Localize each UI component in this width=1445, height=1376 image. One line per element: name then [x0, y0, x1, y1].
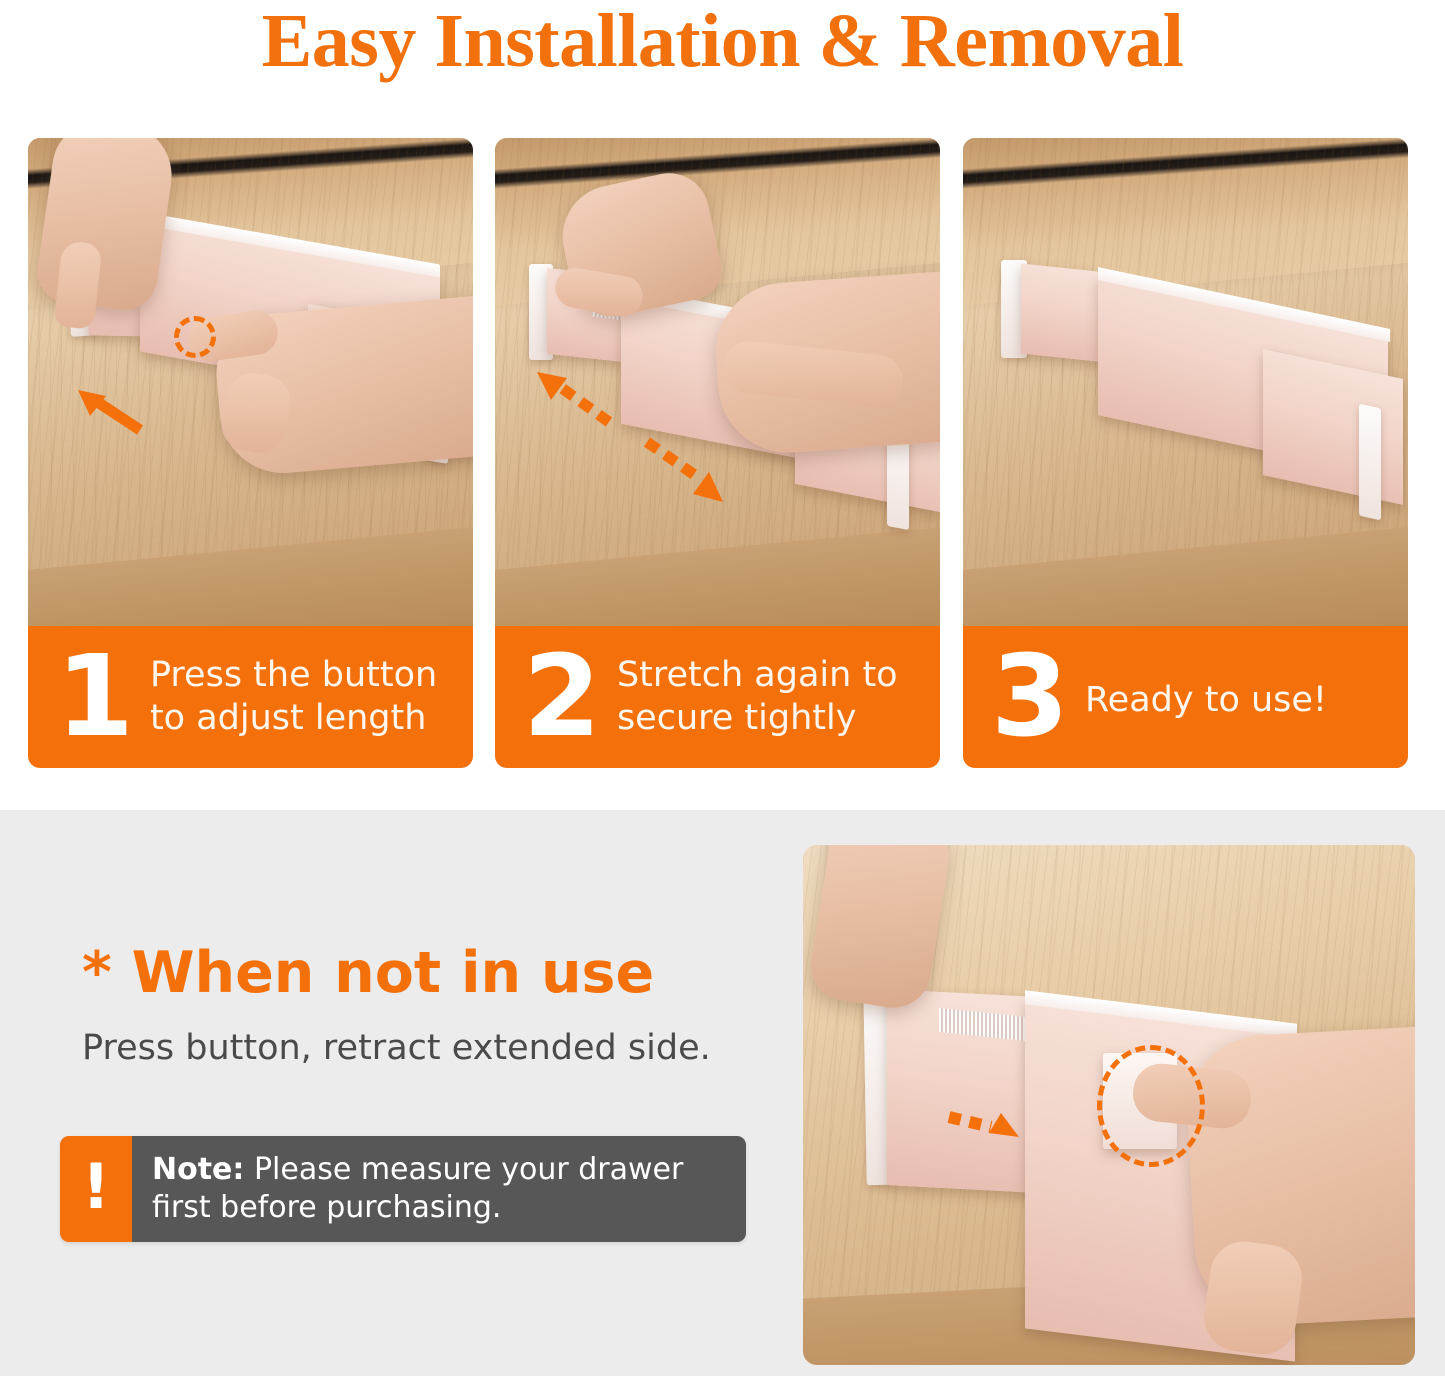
step-2-number: 2: [523, 647, 599, 747]
step-1-photo: [28, 138, 473, 626]
bottom-section: * When not in use Press button, retract …: [0, 810, 1445, 1376]
step-3-photo: [963, 138, 1408, 626]
divider-left-panel: [1021, 263, 1107, 362]
note-badge: !: [60, 1136, 132, 1242]
note-box: ! Note: Please measure your drawer first…: [60, 1136, 746, 1242]
arrow-left-icon: [76, 388, 146, 438]
step-1-number: 1: [56, 647, 132, 747]
step-2-caption: 2 Stretch again to secure tightly: [495, 626, 940, 768]
dashed-circle-button-icon: [1097, 1045, 1205, 1167]
step-3-number: 3: [991, 647, 1067, 747]
note-body: Note: Please measure your drawer first b…: [132, 1136, 746, 1242]
step-2-photo: [495, 138, 940, 626]
step-1-line2: to adjust length: [150, 697, 437, 740]
step-1-text: Press the button to adjust length: [150, 654, 437, 740]
step-card-3: 3 Ready to use!: [963, 138, 1408, 768]
when-not-in-use-photo: [803, 845, 1415, 1365]
step-3-text: Ready to use!: [1085, 673, 1327, 722]
page-title: Easy Installation & Removal: [0, 0, 1445, 85]
dashed-circle-button-icon: [174, 316, 216, 358]
arrow-up-left-dashed-icon: [535, 370, 615, 430]
step-card-2: 2 Stretch again to secure tightly: [495, 138, 940, 768]
exclamation-mark-icon: !: [82, 1156, 110, 1222]
divider-right-end-cap: [1359, 404, 1381, 521]
step-2-line1: Stretch again to: [617, 654, 898, 697]
step-2-text: Stretch again to secure tightly: [617, 654, 898, 740]
step-3-line1: Ready to use!: [1085, 679, 1327, 722]
step-2-line2: secure tightly: [617, 697, 898, 740]
step-3-caption: 3 Ready to use!: [963, 626, 1408, 768]
arrow-down-right-dashed-icon: [641, 436, 731, 506]
step-card-1: 1 Press the button to adjust length: [28, 138, 473, 768]
step-1-line1: Press the button: [150, 654, 437, 697]
step-1-caption: 1 Press the button to adjust length: [28, 626, 473, 768]
arrow-right-dashed-icon: [945, 1103, 1025, 1153]
when-not-in-use-subtitle: Press button, retract extended side.: [82, 1028, 711, 1068]
top-section: Easy Installation & Removal: [0, 0, 1445, 810]
when-not-in-use-heading: * When not in use: [82, 940, 654, 1006]
note-label: Note:: [152, 1152, 244, 1187]
